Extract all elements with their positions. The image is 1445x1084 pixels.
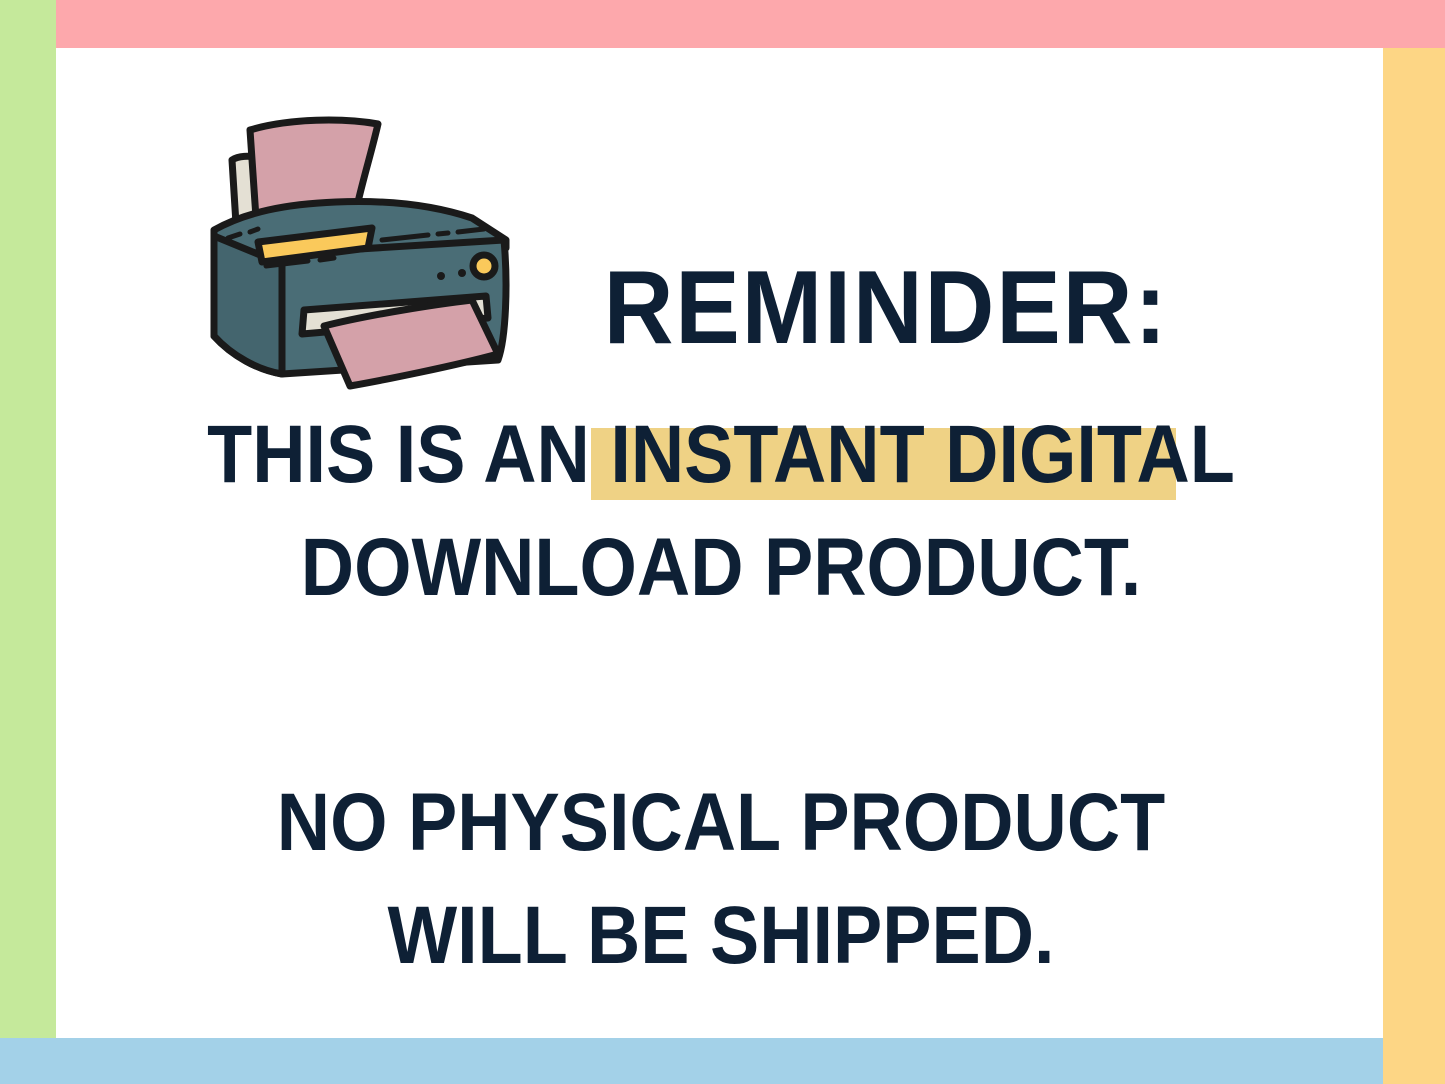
reminder-graphic: REMINDER: THIS IS AN INSTANT DIGITAL DOW… <box>0 0 1445 1084</box>
body-paragraph-2: NO PHYSICAL PRODUCT WILL BE SHIPPED. <box>177 766 1266 992</box>
yellow-right-border <box>1383 48 1445 1084</box>
printer-icon <box>186 98 536 398</box>
pink-top-border <box>56 0 1445 48</box>
heading-block: REMINDER: <box>581 208 1191 408</box>
blue-bottom-border <box>0 1038 1383 1084</box>
printer-power-button <box>473 255 495 277</box>
green-left-border <box>0 0 56 1038</box>
page-title: REMINDER: <box>602 256 1169 360</box>
body-paragraph-1: THIS IS AN INSTANT DIGITAL DOWNLOAD PROD… <box>177 398 1266 624</box>
content-area: REMINDER: THIS IS AN INSTANT DIGITAL DOW… <box>56 48 1383 1038</box>
body-copy: THIS IS AN INSTANT DIGITAL DOWNLOAD PROD… <box>116 398 1326 993</box>
